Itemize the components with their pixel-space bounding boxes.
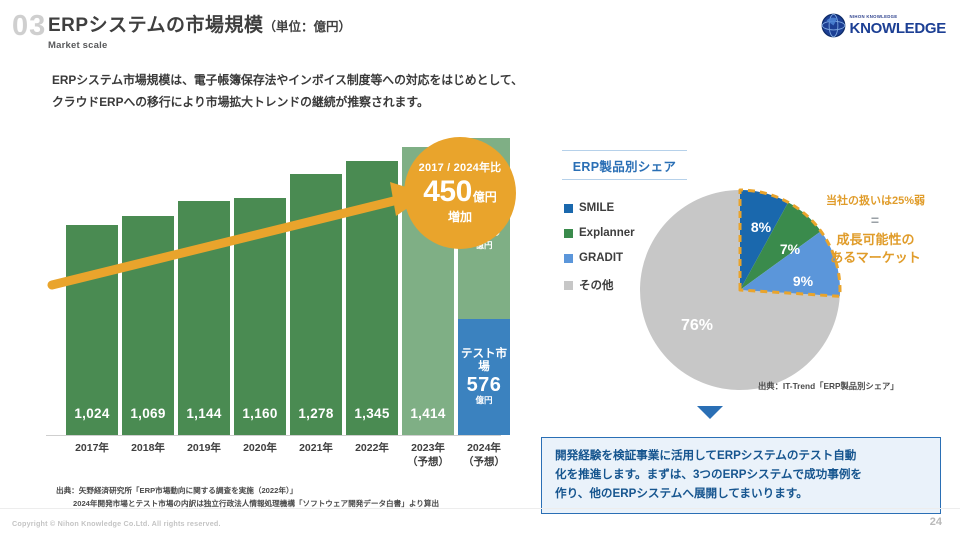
footer-divider bbox=[0, 508, 960, 509]
pie-percent-other: 76% bbox=[681, 317, 713, 334]
callout-compare-label: 2017 / 2024年比 bbox=[419, 162, 502, 175]
bar-segment: 1,345 bbox=[346, 161, 398, 435]
x-tick-label: 2019年 bbox=[187, 442, 221, 454]
x-axis-labels: 2017年 2018年 2019年 2020年 2021年 2022年 2023… bbox=[58, 441, 503, 481]
page-title-unit: （単位：億円） bbox=[264, 20, 352, 34]
bar-column-2022: 1,345 bbox=[346, 130, 398, 435]
legend-swatch bbox=[564, 254, 573, 263]
logo-small-text: NIHON KNOWLEDGE bbox=[850, 15, 946, 19]
x-axis-line bbox=[46, 435, 501, 436]
footnote-line-1: 出典：矢野経済研究所「ERP市場動向に関する調査を実施（2022年）」 bbox=[56, 486, 297, 495]
bar-column-2017: 1,024 bbox=[66, 130, 118, 435]
share-panel: ERP製品別シェア SMILE Explanner GRADIT その他 bbox=[530, 130, 955, 430]
x-tick-2017: 2017年 bbox=[61, 441, 123, 455]
legend-swatch bbox=[564, 229, 573, 238]
bar-segment: 1,144 bbox=[178, 201, 230, 435]
bar-segment: 1,160 bbox=[234, 198, 286, 435]
bar-value-label: 1,160 bbox=[234, 406, 286, 421]
callout-amount: 450 bbox=[423, 175, 472, 210]
conclusion-line-1: 開発経験を検証事業に活用してERPシステムのテスト自動 bbox=[555, 447, 927, 466]
bar-column-2021: 1,278 bbox=[290, 130, 342, 435]
x-tick-label: 2021年 bbox=[299, 442, 333, 454]
segment-name: テスト市場 bbox=[458, 348, 510, 374]
chart-footnote: 出典：矢野経済研究所「ERP市場動向に関する調査を実施（2022年）」 2024… bbox=[56, 485, 536, 510]
legend-item-explanner: Explanner bbox=[564, 227, 635, 239]
segment-value: 576 bbox=[458, 374, 510, 396]
page-title: ERPシステムの市場規模（単位：億円） bbox=[48, 10, 351, 37]
legend-label: その他 bbox=[579, 277, 614, 293]
x-tick-2021: 2021年 bbox=[285, 441, 347, 455]
bar-segment: 1,278 bbox=[290, 174, 342, 435]
pie-percent-gradit: 9% bbox=[793, 273, 814, 289]
page-title-main: ERPシステムの市場規模 bbox=[48, 15, 264, 36]
legend-swatch bbox=[564, 204, 573, 213]
x-tick-2022: 2022年 bbox=[341, 441, 403, 455]
lead-line-2: クラウドERPへの移行により市場拡大トレンドの継続が推察されます。 bbox=[52, 92, 652, 114]
bar-column-2018: 1,069 bbox=[122, 130, 174, 435]
brand-logo: NIHON KNOWLEDGE KNOWLEDGE bbox=[821, 13, 946, 38]
legend-item-other: その他 bbox=[564, 277, 635, 293]
x-tick-sublabel: （予想） bbox=[397, 455, 459, 469]
x-tick-2019: 2019年 bbox=[173, 441, 235, 455]
section-number: 03 bbox=[12, 10, 46, 43]
slide-header: 03 ERPシステムの市場規模（単位：億円） Market scale NIHO… bbox=[0, 0, 960, 56]
x-tick-label: 2022年 bbox=[355, 442, 389, 454]
x-tick-label: 2017年 bbox=[75, 442, 109, 454]
legend-item-smile: SMILE bbox=[564, 202, 635, 214]
x-tick-label: 2023年 bbox=[411, 442, 445, 454]
bar-segment: 1,069 bbox=[122, 216, 174, 435]
share-source: 出典：IT-Trend「ERP製品別シェア」 bbox=[758, 380, 899, 392]
annotation-line-2: 成長可能性の あるマーケット bbox=[798, 231, 953, 266]
x-tick-label: 2020年 bbox=[243, 442, 277, 454]
lead-paragraph: ERPシステム市場規模は、電子帳簿保存法やインボイス制度等への対応をはじめとして… bbox=[52, 70, 652, 114]
x-tick-2023: 2023年 （予想） bbox=[397, 441, 459, 469]
x-tick-label: 2018年 bbox=[131, 442, 165, 454]
logo-wordmark: KNOWLEDGE bbox=[850, 21, 946, 36]
bar-segment-test-market: テスト市場 576 億円 bbox=[458, 319, 510, 435]
bar-column-2019: 1,144 bbox=[178, 130, 230, 435]
annotation-equals: = bbox=[798, 212, 953, 228]
title-block: ERPシステムの市場規模（単位：億円） Market scale bbox=[48, 10, 351, 51]
share-heading: ERP製品別シェア bbox=[562, 150, 687, 180]
knowledge-sphere-icon bbox=[821, 13, 846, 38]
legend-label: Explanner bbox=[579, 227, 635, 239]
legend-label: GRADIT bbox=[579, 252, 623, 264]
callout-amount-unit: 億円 bbox=[473, 191, 497, 205]
growth-callout-circle: 2017 / 2024年比 450 億円 増加 bbox=[404, 137, 516, 249]
conclusion-box: 開発経験を検証事業に活用してERPシステムのテスト自動 化を推進します。まずは、… bbox=[541, 437, 941, 514]
x-tick-sublabel: （予想） bbox=[453, 455, 515, 469]
bar-column-2020: 1,160 bbox=[234, 130, 286, 435]
annotation-line-1: 当社の扱いは25%弱 bbox=[798, 192, 953, 208]
x-tick-2024: 2024年 （予想） bbox=[453, 441, 515, 469]
annotation-line-2b: あるマーケット bbox=[798, 249, 953, 267]
pie-legend: SMILE Explanner GRADIT その他 bbox=[564, 202, 635, 306]
legend-label: SMILE bbox=[579, 202, 614, 214]
callout-amount-row: 450 億円 bbox=[423, 175, 497, 210]
copyright-text: Copyright © Nihon Knowledge Co.Ltd. All … bbox=[12, 519, 221, 528]
page-subtitle: Market scale bbox=[48, 40, 351, 51]
bar-value-label: 1,069 bbox=[122, 406, 174, 421]
x-tick-2020: 2020年 bbox=[229, 441, 291, 455]
bar-segment: 1,024 bbox=[66, 225, 118, 435]
conclusion-line-2: 化を推進します。まずは、3つのERPシステムで成功事例を bbox=[555, 466, 927, 485]
bar-value-label: 1,345 bbox=[346, 406, 398, 421]
bar-value-label: 1,024 bbox=[66, 406, 118, 421]
callout-suffix: 増加 bbox=[448, 211, 472, 225]
bar-value-label: 1,414 bbox=[402, 406, 454, 421]
logo-text-wrap: NIHON KNOWLEDGE KNOWLEDGE bbox=[850, 15, 946, 35]
share-annotation: 当社の扱いは25%弱 = 成長可能性の あるマーケット bbox=[798, 192, 953, 266]
x-tick-label: 2024年 bbox=[467, 442, 501, 454]
page-number: 24 bbox=[930, 516, 942, 528]
pie-percent-smile: 8% bbox=[751, 219, 772, 235]
legend-item-gradit: GRADIT bbox=[564, 252, 635, 264]
annotation-line-2a: 成長可能性の bbox=[798, 231, 953, 249]
x-tick-2018: 2018年 bbox=[117, 441, 179, 455]
legend-swatch bbox=[564, 281, 573, 290]
segment-label-group: テスト市場 576 億円 bbox=[458, 348, 510, 406]
lead-line-1: ERPシステム市場規模は、電子帳簿保存法やインボイス制度等への対応をはじめとして… bbox=[52, 70, 652, 92]
bar-value-label: 1,144 bbox=[178, 406, 230, 421]
bar-value-label: 1,278 bbox=[290, 406, 342, 421]
down-arrow-icon bbox=[697, 406, 723, 419]
conclusion-line-3: 作り、他のERPシステムへ展開してまいります。 bbox=[555, 485, 927, 504]
segment-unit: 億円 bbox=[458, 396, 510, 406]
